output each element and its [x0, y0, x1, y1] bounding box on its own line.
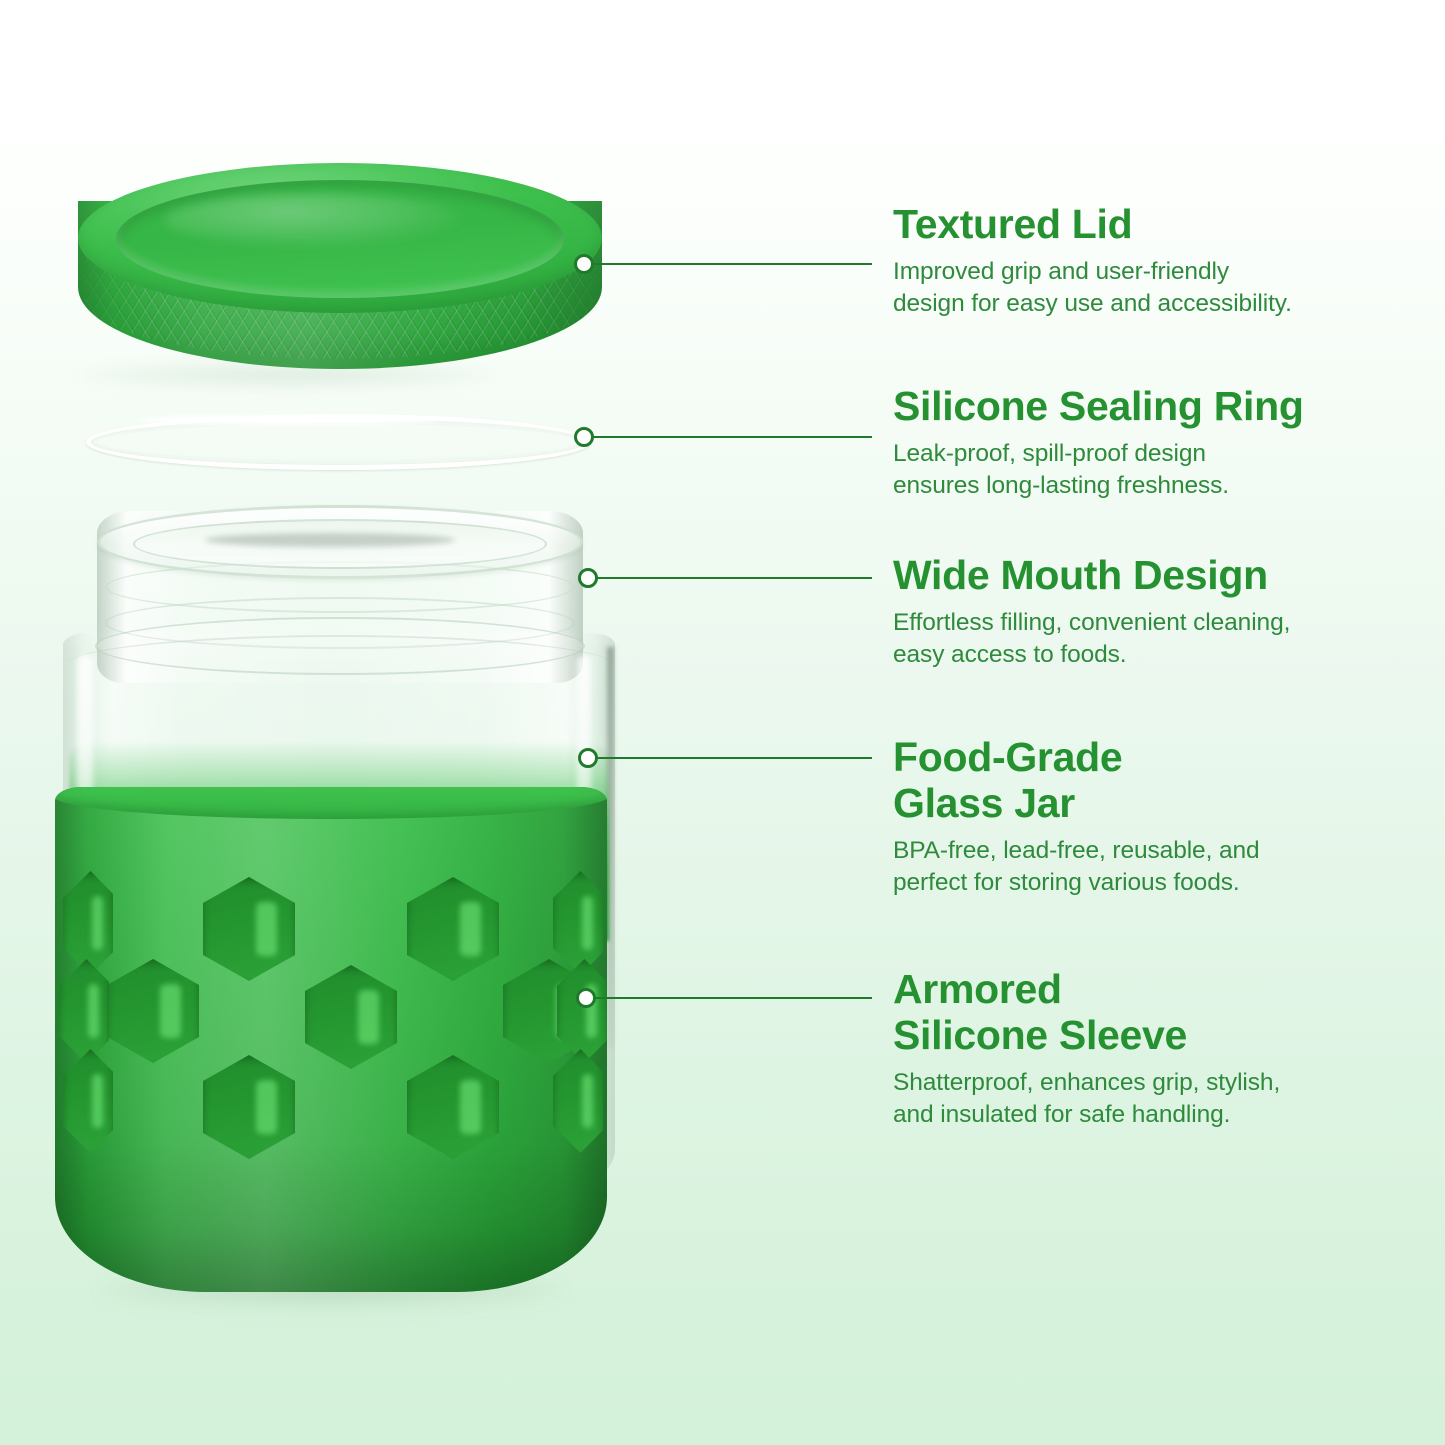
callout-title: Food-Grade Glass Jar	[893, 735, 1433, 827]
callout-dot-armored-silicone-sleeve[interactable]	[576, 988, 596, 1008]
callout-dot-food-grade-glass-jar[interactable]	[578, 748, 598, 768]
sealing-ring-inner-edge	[96, 422, 581, 462]
callout-title: Silicone Sealing Ring	[893, 384, 1433, 430]
silicone-sealing-ring-graphic	[86, 414, 591, 476]
callout-text-armored-silicone-sleeve: Armored Silicone Sleeve Shatterproof, en…	[893, 967, 1433, 1132]
sleeve-hexagon	[203, 877, 295, 981]
callout-title: Textured Lid	[893, 202, 1433, 248]
sleeve-hexagon	[63, 871, 113, 975]
callout-text-wide-mouth-design: Wide Mouth Design Effortless filling, co…	[893, 553, 1433, 672]
callout-description: Effortless filling, convenient cleaning,…	[893, 607, 1433, 672]
sleeve-bottom-shading	[55, 1142, 607, 1292]
callout-description: Leak-proof, spill-proof design ensures l…	[893, 438, 1433, 503]
sleeve-hexagon	[63, 1049, 113, 1153]
product-exploded-view	[0, 0, 680, 1445]
callout-title: Wide Mouth Design	[893, 553, 1433, 599]
callout-line-textured-lid	[592, 263, 872, 265]
callout-text-food-grade-glass-jar: Food-Grade Glass Jar BPA-free, lead-free…	[893, 735, 1433, 900]
sleeve-top-lip	[55, 787, 607, 819]
callout-dot-textured-lid[interactable]	[574, 254, 594, 274]
callout-text-silicone-sealing-ring: Silicone Sealing Ring Leak-proof, spill-…	[893, 384, 1433, 503]
sleeve-hexagon	[553, 871, 603, 975]
armored-silicone-sleeve-graphic	[55, 787, 607, 1292]
callout-text-textured-lid: Textured Lid Improved grip and user-frie…	[893, 202, 1433, 321]
infographic-canvas: Textured Lid Improved grip and user-frie…	[0, 0, 1445, 1445]
sleeve-hexagon	[107, 959, 199, 1063]
glass-edge-shading	[607, 647, 614, 1047]
sealing-ring-highlight	[138, 415, 438, 425]
callout-dot-silicone-sealing-ring[interactable]	[574, 427, 594, 447]
sleeve-hexagon	[59, 959, 109, 1063]
jar-shoulder	[63, 635, 615, 697]
callout-line-armored-silicone-sleeve	[594, 997, 872, 999]
lid-gloss-highlight	[164, 193, 464, 247]
callout-line-food-grade-glass-jar	[596, 757, 872, 759]
sleeve-hexagon	[553, 1049, 603, 1153]
sleeve-hexagon	[407, 877, 499, 981]
sleeve-hexagon	[305, 965, 397, 1069]
textured-lid-graphic	[78, 163, 602, 388]
callout-line-wide-mouth-design	[596, 577, 872, 579]
callout-description: BPA-free, lead-free, reusable, and perfe…	[893, 835, 1433, 900]
callout-line-silicone-sealing-ring	[592, 436, 872, 438]
callout-title: Armored Silicone Sleeve	[893, 967, 1433, 1059]
callout-description: Improved grip and user-friendly design f…	[893, 256, 1433, 321]
callout-dot-wide-mouth-design[interactable]	[578, 568, 598, 588]
jar-mouth-inner-shadow	[205, 533, 455, 547]
callout-description: Shatterproof, enhances grip, stylish, an…	[893, 1067, 1433, 1132]
